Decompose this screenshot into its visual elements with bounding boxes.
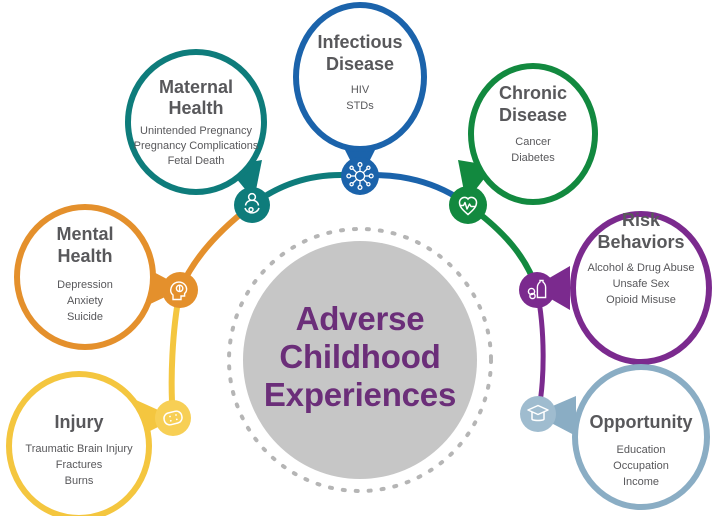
node-maternal-health[interactable]: Maternal Health Unintended Pregnancy Pre…: [128, 52, 264, 200]
opportunity-item-3: Income: [623, 476, 659, 488]
risk-item-3: Opioid Misuse: [606, 294, 676, 306]
mental-title-line2: Health: [57, 246, 112, 266]
infectious-title-line2: Disease: [326, 54, 394, 74]
maternal-item-2: Pregnancy Complications: [134, 140, 259, 152]
chronic-title-line1: Chronic: [499, 83, 567, 103]
center-title-line1: Adverse: [296, 300, 425, 337]
mental-item-2: Anxiety: [67, 295, 104, 307]
heart-pulse-icon[interactable]: [449, 186, 487, 224]
diagram-canvas: Adverse Childhood Experiences Maternal H…: [0, 0, 720, 516]
injury-item-2: Fractures: [56, 459, 103, 471]
opportunity-item-1: Education: [617, 444, 666, 456]
maternal-title-line2: Health: [168, 98, 223, 118]
injury-item-1: Traumatic Brain Injury: [25, 443, 133, 455]
maternal-item-1: Unintended Pregnancy: [140, 125, 252, 137]
infectious-item-1: HIV: [351, 84, 370, 96]
node-opportunity[interactable]: Opportunity Education Occupation Income: [534, 367, 707, 507]
infectious-bubble[interactable]: [296, 5, 424, 149]
node-risk-behaviors[interactable]: Risk Behaviors Alcohol & Drug Abuse Unsa…: [532, 210, 709, 362]
risk-item-2: Unsafe Sex: [613, 278, 670, 290]
maternal-bubble[interactable]: [128, 52, 264, 192]
node-injury[interactable]: Injury Traumatic Brain Injury Fractures …: [9, 374, 176, 516]
mental-title-line1: Mental: [56, 224, 113, 244]
opportunity-title-line1: Opportunity: [590, 412, 693, 432]
arc-mental-to-injury: [172, 290, 180, 418]
maternal-title-line1: Maternal: [159, 77, 233, 97]
chronic-item-1: Cancer: [515, 136, 551, 148]
chronic-item-2: Diabetes: [511, 152, 555, 164]
mental-item-1: Depression: [57, 279, 113, 291]
mother-baby-icon[interactable]: [234, 187, 270, 223]
graduation-cap-icon[interactable]: [520, 396, 556, 432]
infectious-title-line1: Infectious: [317, 32, 402, 52]
center-title-line3: Experiences: [264, 376, 456, 413]
center-title-line2: Childhood: [279, 338, 440, 375]
chronic-title-line2: Disease: [499, 105, 567, 125]
head-brain-icon[interactable]: [162, 272, 198, 308]
risk-item-1: Alcohol & Drug Abuse: [587, 262, 694, 274]
injury-title-line1: Injury: [54, 412, 103, 432]
germ-icon[interactable]: [341, 157, 379, 195]
opportunity-item-2: Occupation: [613, 460, 669, 472]
arc-risk-to-opportunity: [537, 290, 543, 414]
injury-item-3: Burns: [65, 475, 94, 487]
node-infectious-disease[interactable]: Infectious Disease HIV STDs: [296, 5, 424, 180]
mental-item-3: Suicide: [67, 311, 103, 323]
risk-title-line1: Risk: [622, 210, 661, 230]
maternal-item-3: Fetal Death: [168, 155, 225, 167]
infectious-item-2: STDs: [346, 100, 374, 112]
node-chronic-disease[interactable]: Chronic Disease Cancer Diabetes: [458, 66, 595, 202]
risk-title-line2: Behaviors: [597, 232, 684, 252]
bottle-pills-icon[interactable]: [519, 272, 555, 308]
node-mental-health[interactable]: Mental Health Depression Anxiety Suicide: [17, 207, 184, 347]
bandage-icon[interactable]: [155, 400, 191, 436]
